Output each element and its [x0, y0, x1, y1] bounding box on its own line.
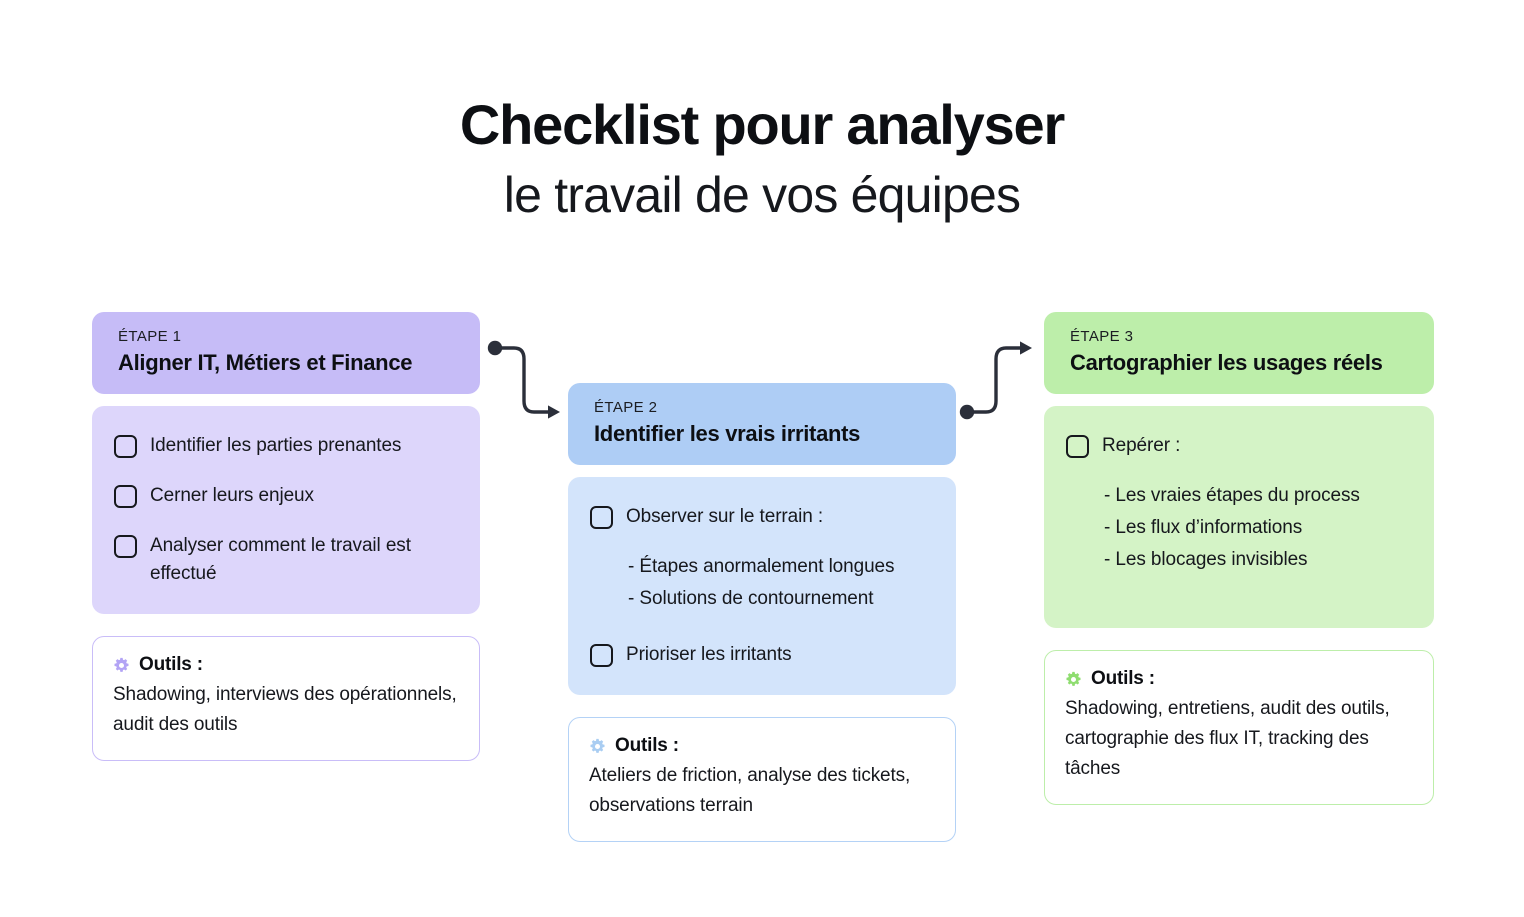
tools-label: Outils :	[615, 735, 679, 757]
tools-label: Outils :	[1091, 668, 1155, 690]
checklist-item-label: Observer sur le terrain :	[626, 503, 823, 531]
checklist-item-label: Prioriser les irritants	[626, 641, 792, 669]
checkbox-icon[interactable]	[590, 506, 613, 529]
step-2-title: Identifier les vrais irritants	[594, 419, 930, 448]
step-1-tools-box: Outils : Shadowing, interviews des opéra…	[92, 636, 480, 761]
tools-text: Shadowing, entretiens, audit des outils,…	[1065, 694, 1413, 784]
checklist-item[interactable]: Cerner leurs enjeux	[114, 482, 458, 510]
tools-text: Ateliers de friction, analyse des ticket…	[589, 761, 935, 821]
connector-step2-to-step3	[956, 332, 1048, 428]
step-2-sub-list: - Étapes anormalement longues - Solution…	[590, 551, 934, 615]
step-3-tools-box: Outils : Shadowing, entretiens, audit de…	[1044, 650, 1434, 805]
checklist-item[interactable]: Analyser comment le travail est effectué	[114, 532, 458, 588]
sub-list-item: - Solutions de contournement	[628, 583, 934, 615]
step-column-3: ÉTAPE 3 Cartographier les usages réels R…	[1044, 312, 1434, 805]
step-1-eyebrow: ÉTAPE 1	[118, 327, 454, 347]
step-2-tools-box: Outils : Ateliers de friction, analyse d…	[568, 717, 956, 842]
checklist-item[interactable]: Prioriser les irritants	[590, 641, 934, 669]
gear-icon	[113, 657, 130, 674]
tools-heading: Outils :	[113, 654, 459, 676]
page-title: Checklist pour analyser le travail de vo…	[0, 92, 1524, 226]
infographic-canvas: Checklist pour analyser le travail de vo…	[0, 0, 1524, 917]
title-line-2: le travail de vos équipes	[0, 164, 1524, 226]
step-1-checklist-panel: Identifier les parties prenantes Cerner …	[92, 406, 480, 614]
sub-list-item: - Les blocages invisibles	[1104, 544, 1412, 576]
sub-list-item: - Étapes anormalement longues	[628, 551, 934, 583]
connector-step1-to-step2	[484, 332, 576, 428]
step-3-sub-list: - Les vraies étapes du process - Les flu…	[1066, 480, 1412, 576]
step-column-1: ÉTAPE 1 Aligner IT, Métiers et Finance I…	[92, 312, 480, 761]
tools-text: Shadowing, interviews des opérationnels,…	[113, 680, 459, 740]
step-2-checklist-panel: Observer sur le terrain : - Étapes anorm…	[568, 477, 956, 695]
checkbox-icon[interactable]	[590, 644, 613, 667]
checklist-item-label: Repérer :	[1102, 432, 1180, 460]
step-column-2: ÉTAPE 2 Identifier les vrais irritants O…	[568, 383, 956, 842]
tools-label: Outils :	[139, 654, 203, 676]
step-1-title: Aligner IT, Métiers et Finance	[118, 348, 454, 377]
step-2-header: ÉTAPE 2 Identifier les vrais irritants	[568, 383, 956, 465]
tools-heading: Outils :	[1065, 668, 1413, 690]
checkbox-icon[interactable]	[114, 485, 137, 508]
tools-heading: Outils :	[589, 735, 935, 757]
title-line-1: Checklist pour analyser	[0, 92, 1524, 158]
checklist-item-label: Cerner leurs enjeux	[150, 482, 314, 510]
checklist-item[interactable]: Observer sur le terrain :	[590, 503, 934, 531]
step-1-header: ÉTAPE 1 Aligner IT, Métiers et Finance	[92, 312, 480, 394]
gear-icon	[1065, 671, 1082, 688]
checklist-item-label: Identifier les parties prenantes	[150, 432, 401, 460]
step-3-eyebrow: ÉTAPE 3	[1070, 327, 1408, 347]
sub-list-item: - Les flux d’informations	[1104, 512, 1412, 544]
checkbox-icon[interactable]	[114, 535, 137, 558]
step-3-title: Cartographier les usages réels	[1070, 348, 1408, 377]
gear-icon	[589, 738, 606, 755]
checklist-item-label: Analyser comment le travail est effectué	[150, 532, 458, 588]
checklist-item[interactable]: Repérer :	[1066, 432, 1412, 460]
step-2-eyebrow: ÉTAPE 2	[594, 398, 930, 418]
checkbox-icon[interactable]	[1066, 435, 1089, 458]
checkbox-icon[interactable]	[114, 435, 137, 458]
step-3-header: ÉTAPE 3 Cartographier les usages réels	[1044, 312, 1434, 394]
sub-list-item: - Les vraies étapes du process	[1104, 480, 1412, 512]
checklist-item[interactable]: Identifier les parties prenantes	[114, 432, 458, 460]
step-3-checklist-panel: Repérer : - Les vraies étapes du process…	[1044, 406, 1434, 628]
